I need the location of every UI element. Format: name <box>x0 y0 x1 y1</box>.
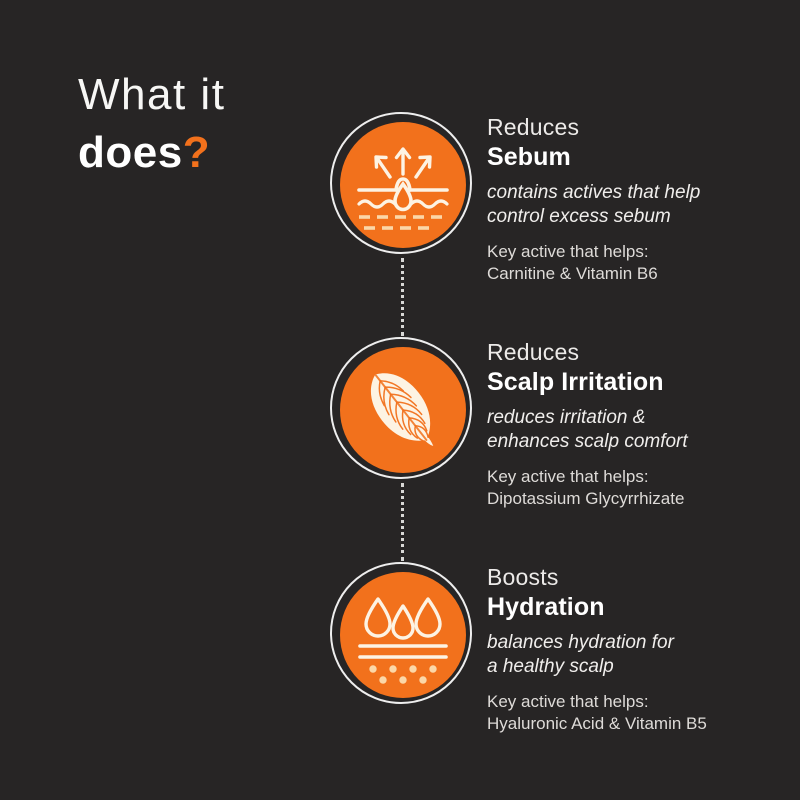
benefit-badge-hydration[interactable] <box>330 562 476 708</box>
benefit-row-sebum: Reduces Sebum contains actives that help… <box>0 112 800 272</box>
benefit-key-active: Key active that helps: Carnitine & Vitam… <box>487 241 787 286</box>
benefit-description-line: reduces irritation & <box>487 406 787 430</box>
benefit-description: contains actives that help control exces… <box>487 181 787 230</box>
benefit-description-line: a healthy scalp <box>487 655 787 679</box>
benefit-key-active: Key active that helps: Dipotassium Glycy… <box>487 466 787 511</box>
water-drops-hydration-icon <box>340 572 466 698</box>
feather-icon <box>340 347 466 473</box>
benefit-description: reduces irritation & enhances scalp comf… <box>487 406 787 455</box>
benefit-description: balances hydration for a healthy scalp <box>487 631 787 680</box>
benefit-eyebrow: Reduces <box>487 114 787 141</box>
benefit-headline: Sebum <box>487 142 787 172</box>
benefit-row-hydration: Boosts Hydration balances hydration for … <box>0 562 800 722</box>
key-active-value: Dipotassium Glycyrrhizate <box>487 488 787 510</box>
key-active-label: Key active that helps: <box>487 691 787 713</box>
benefit-key-active: Key active that helps: Hyaluronic Acid &… <box>487 691 787 736</box>
connector-dotted-line-2 <box>401 483 407 561</box>
benefit-copy-hydration: Boosts Hydration balances hydration for … <box>487 564 787 736</box>
key-active-value: Carnitine & Vitamin B6 <box>487 263 787 285</box>
benefit-headline: Scalp Irritation <box>487 367 787 397</box>
benefit-description-line: balances hydration for <box>487 631 787 655</box>
sebum-skin-arrows-icon <box>340 122 466 248</box>
benefit-badge-sebum[interactable] <box>330 112 476 258</box>
benefit-description-line: contains actives that help <box>487 181 787 205</box>
benefit-description-line: control excess sebum <box>487 205 787 229</box>
benefit-eyebrow: Reduces <box>487 339 787 366</box>
key-active-label: Key active that helps: <box>487 241 787 263</box>
benefit-copy-sebum: Reduces Sebum contains actives that help… <box>487 114 787 286</box>
benefit-copy-scalp-irritation: Reduces Scalp Irritation reduces irritat… <box>487 339 787 511</box>
infographic-canvas: What it does? <box>0 0 800 800</box>
benefit-badge-scalp-irritation[interactable] <box>330 337 476 483</box>
key-active-value: Hyaluronic Acid & Vitamin B5 <box>487 713 787 735</box>
key-active-label: Key active that helps: <box>487 466 787 488</box>
benefit-row-scalp-irritation: Reduces Scalp Irritation reduces irritat… <box>0 337 800 497</box>
connector-dotted-line-1 <box>401 258 407 336</box>
benefit-headline: Hydration <box>487 592 787 622</box>
benefit-eyebrow: Boosts <box>487 564 787 591</box>
benefit-description-line: enhances scalp comfort <box>487 430 787 454</box>
